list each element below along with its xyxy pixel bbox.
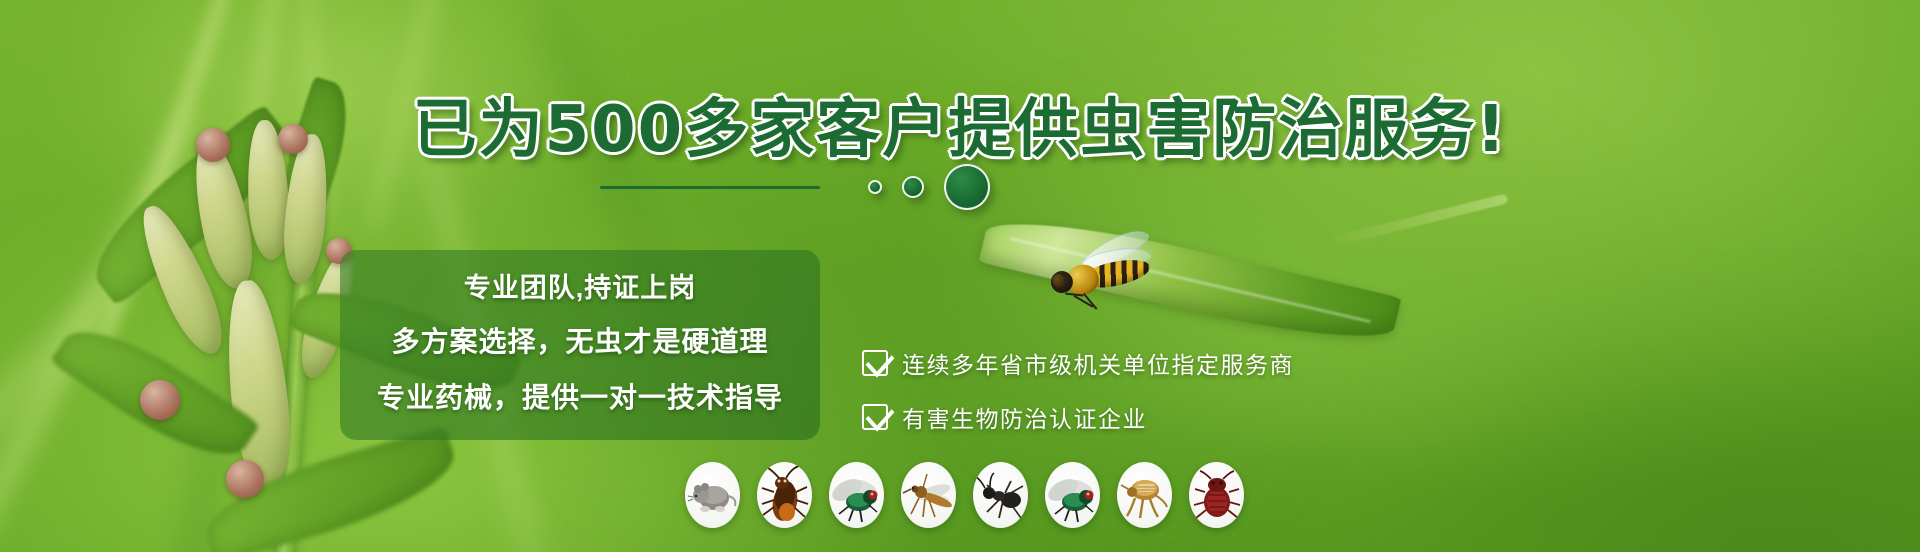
flower-spike bbox=[219, 278, 297, 493]
decorative-dot-medium bbox=[902, 176, 924, 198]
selling-point-line-3: 专业药械，提供一对一技术指导 bbox=[340, 376, 820, 416]
divider-line bbox=[600, 186, 820, 189]
selling-point-line-1: 专业团队,持证上岗 bbox=[340, 266, 820, 305]
credentials-list: 连续多年省市级机关单位指定服务商 有害生物防治认证企业 bbox=[862, 336, 1482, 444]
credential-label: 连续多年省市级机关单位指定服务商 bbox=[902, 346, 1294, 380]
decorative-divider bbox=[600, 160, 1020, 212]
flea-icon[interactable] bbox=[1117, 462, 1172, 528]
checkbox-check-icon bbox=[862, 404, 888, 430]
selling-point-line-2: 多方案选择，无虫才是硬道理 bbox=[340, 320, 820, 360]
pest-icon-row bbox=[685, 462, 1244, 528]
flower-bud bbox=[140, 380, 180, 420]
banner-headline: 已为500多家客户提供虫害防治服务! bbox=[0, 78, 1920, 170]
checkbox-check-icon bbox=[862, 350, 888, 376]
cockroach-icon[interactable] bbox=[757, 462, 812, 528]
flower-bud bbox=[226, 460, 264, 498]
list-item: 连续多年省市级机关单位指定服务商 bbox=[862, 336, 1482, 390]
selling-points-panel: 专业团队,持证上岗 多方案选择，无虫才是硬道理 专业药械，提供一对一技术指导 bbox=[340, 250, 820, 440]
decorative-dot-small bbox=[868, 180, 882, 194]
credential-label: 有害生物防治认证企业 bbox=[902, 400, 1147, 434]
pest-control-hero-banner: 已为500多家客户提供虫害防治服务! 专业团队,持证上岗 多方案选择，无虫才是硬… bbox=[0, 0, 1920, 552]
fly-icon[interactable] bbox=[829, 462, 884, 528]
rodent-icon[interactable] bbox=[685, 462, 740, 528]
bedbug-icon[interactable] bbox=[1189, 462, 1244, 528]
decorative-dot-large bbox=[944, 164, 990, 210]
list-item: 有害生物防治认证企业 bbox=[862, 390, 1482, 444]
blowfly-icon[interactable] bbox=[1045, 462, 1100, 528]
ant-icon[interactable] bbox=[973, 462, 1028, 528]
mosquito-icon[interactable] bbox=[901, 462, 956, 528]
